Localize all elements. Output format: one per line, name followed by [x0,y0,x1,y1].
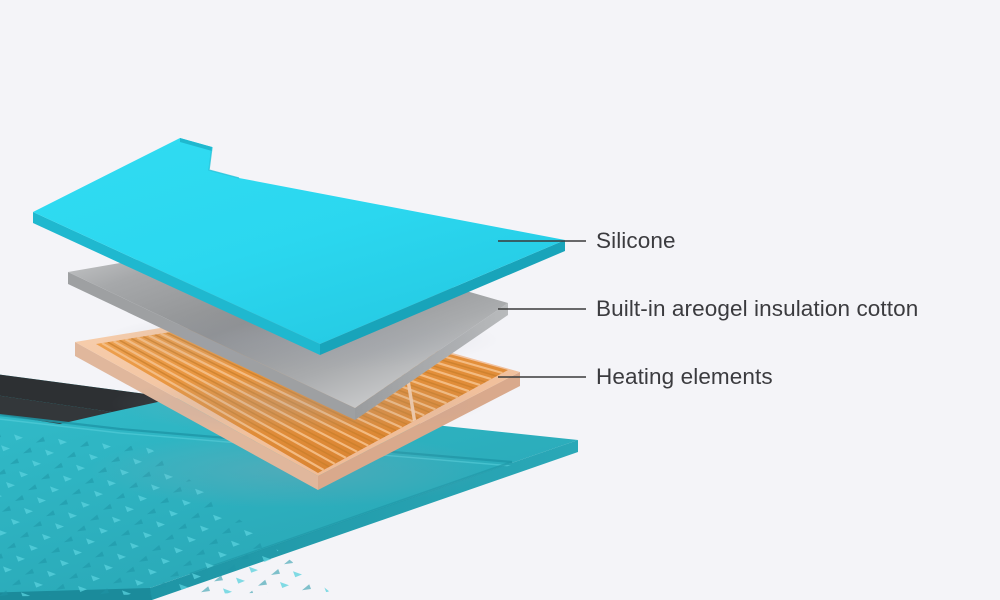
mat-grip-triangle [280,582,289,588]
mat-grip-triangle [289,595,298,600]
mat-grip-triangle [293,571,302,577]
mat-grip-triangle [236,578,245,584]
mat-grip-triangle [341,552,350,558]
mat-grip-triangle [271,569,280,575]
mat-grip-triangle [332,539,341,545]
mat-grip-triangle [346,589,355,595]
mat-grip-triangle [306,560,315,566]
mat-grip-triangle [267,593,276,599]
label-silicone: Silicone [596,228,676,253]
label-insulation: Built-in areogel insulation cotton [596,296,918,321]
label-heating-elements: Heating elements [596,364,773,389]
mat-grip-triangle [201,586,210,592]
mat-grip-triangle [328,563,337,569]
mat-grip-triangle [249,567,258,573]
mat-grip-triangle [245,591,254,597]
diagram-canvas: Silicone Built-in areogel insulation cot… [0,0,1000,600]
layer-labels: Silicone Built-in areogel insulation cot… [596,228,918,389]
mat-grip-triangle [223,588,232,594]
mat-grip-triangle [354,541,363,547]
mat-grip-triangle [315,573,324,579]
mat-grip-triangle [337,576,346,582]
exploded-view-illustration: Silicone Built-in areogel insulation cot… [0,0,1000,600]
mat-grip-triangle [302,584,311,590]
mat-grip-triangle [319,550,328,556]
mat-grip-triangle [324,586,333,592]
mat-grip-triangle [166,595,175,600]
mat-grip-triangle [284,558,293,564]
mat-grip-triangle [350,565,359,571]
mat-grip-triangle [258,580,267,586]
mat-grip-triangle [359,578,368,584]
